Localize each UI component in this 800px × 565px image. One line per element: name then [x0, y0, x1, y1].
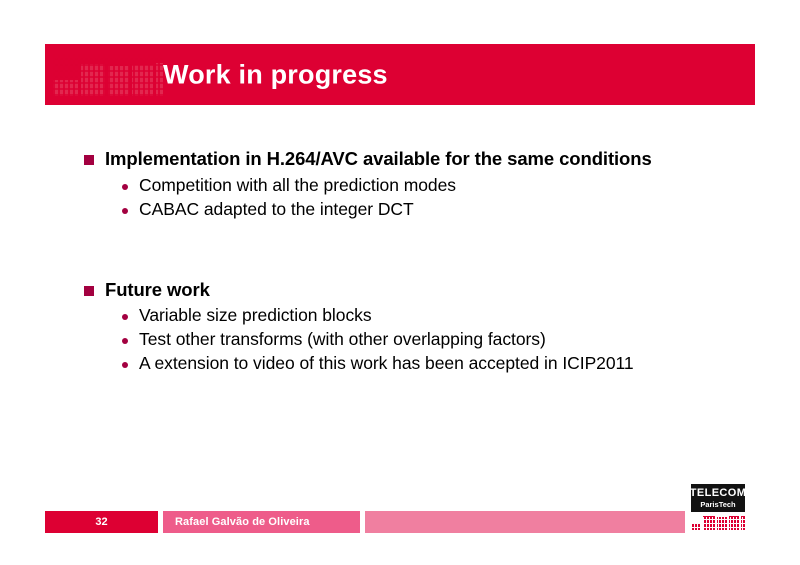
sub-bullet-label: A extension to video of this work has be… [139, 353, 634, 375]
sub-bullet-item: A extension to video of this work has be… [122, 353, 724, 375]
square-bullet-icon [84, 286, 94, 296]
sub-bullet-label: Variable size prediction blocks [139, 305, 372, 327]
logo-text-box: TELECOM ParisTech [691, 484, 745, 512]
bullet-group: Implementation in H.264/AVC available fo… [84, 148, 724, 221]
author-label: Rafael Galvão de Oliveira [175, 516, 310, 528]
slide-title: Work in progress [163, 59, 388, 90]
slide-header-bar: Work in progress [45, 44, 755, 105]
logo-glyph-marks-icon [691, 515, 745, 530]
bullet-group: Future work Variable size prediction blo… [84, 279, 724, 375]
header-watermark-logo-icon [53, 54, 163, 96]
bullet-heading: Implementation in H.264/AVC available fo… [84, 148, 724, 170]
sub-bullet-item: Test other transforms (with other overla… [122, 329, 724, 351]
sub-bullet-item: CABAC adapted to the integer DCT [122, 199, 724, 221]
page-number-block: 32 [45, 511, 158, 533]
bullet-heading: Future work [84, 279, 724, 301]
dot-bullet-icon [122, 184, 128, 190]
dot-bullet-icon [122, 314, 128, 320]
sub-bullet-item: Competition with all the prediction mode… [122, 175, 724, 197]
logo-telecom-label: TELECOM [690, 488, 747, 499]
bullet-heading-label: Implementation in H.264/AVC available fo… [105, 148, 652, 170]
footer-filler-bar [365, 511, 685, 533]
presentation-slide: Work in progress Implementation in H.264… [0, 0, 800, 565]
sub-bullet-label: CABAC adapted to the integer DCT [139, 199, 414, 221]
page-number-label: 32 [95, 516, 107, 528]
logo-paristech-label: ParisTech [700, 500, 735, 509]
dot-bullet-icon [122, 338, 128, 344]
dot-bullet-icon [122, 208, 128, 214]
slide-body: Implementation in H.264/AVC available fo… [84, 148, 724, 377]
square-bullet-icon [84, 155, 94, 165]
section-spacer [84, 223, 724, 279]
bullet-heading-label: Future work [105, 279, 210, 301]
sub-bullet-label: Competition with all the prediction mode… [139, 175, 456, 197]
sub-bullet-item: Variable size prediction blocks [122, 305, 724, 327]
telecom-paristech-logo: TELECOM ParisTech [691, 484, 745, 532]
author-block: Rafael Galvão de Oliveira [163, 511, 360, 533]
sub-bullet-label: Test other transforms (with other overla… [139, 329, 546, 351]
slide-footer: 32 Rafael Galvão de Oliveira [45, 511, 755, 533]
dot-bullet-icon [122, 362, 128, 368]
